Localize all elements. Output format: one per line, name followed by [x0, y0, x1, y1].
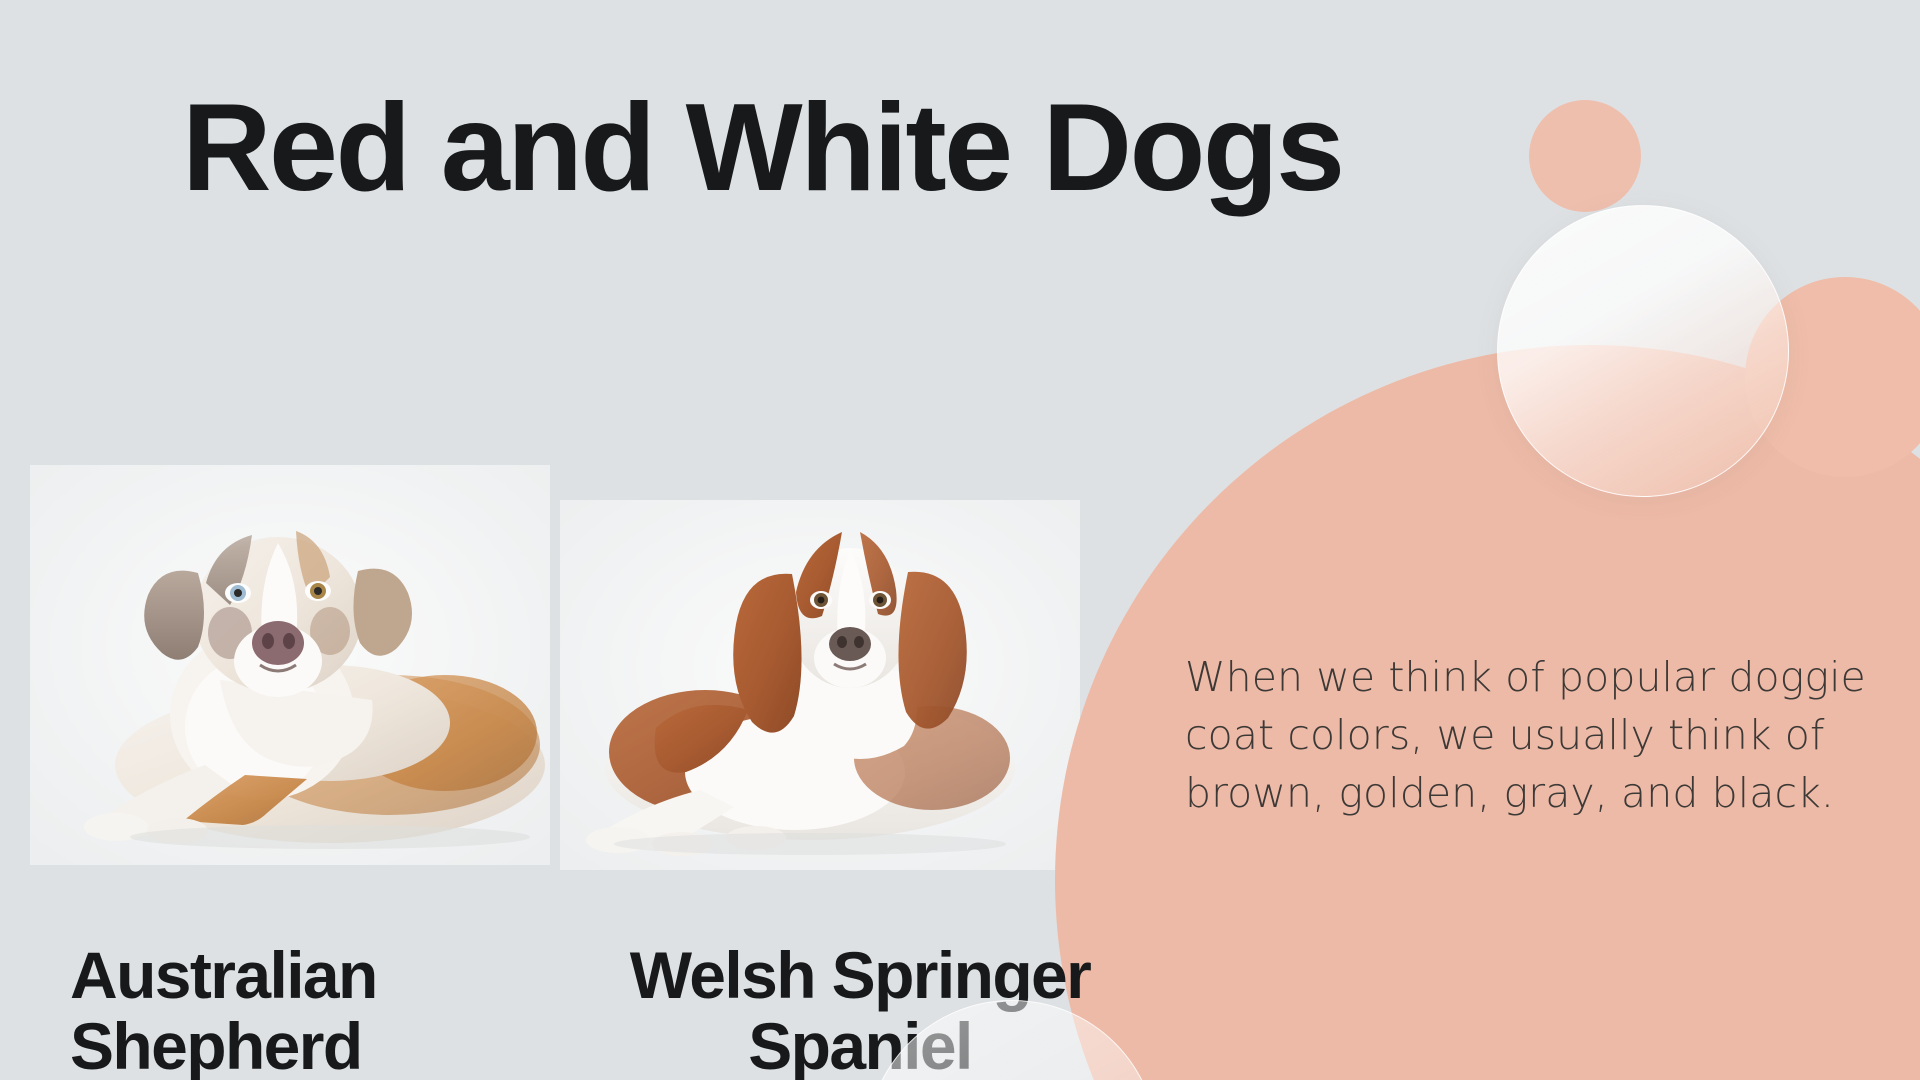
salmon-circle-small-decor [1529, 100, 1641, 212]
body-paragraph: When we think of popular doggie coat col… [1185, 648, 1885, 823]
breed-label-australian-shepherd: Australian Shepherd [70, 940, 540, 1080]
australian-shepherd-photo [30, 465, 550, 865]
slide-canvas: Red and White Dogs [0, 0, 1920, 1080]
page-title: Red and White Dogs [182, 86, 1343, 210]
glass-circle-top-decor [1497, 205, 1789, 497]
welsh-springer-spaniel-photo [560, 500, 1080, 870]
